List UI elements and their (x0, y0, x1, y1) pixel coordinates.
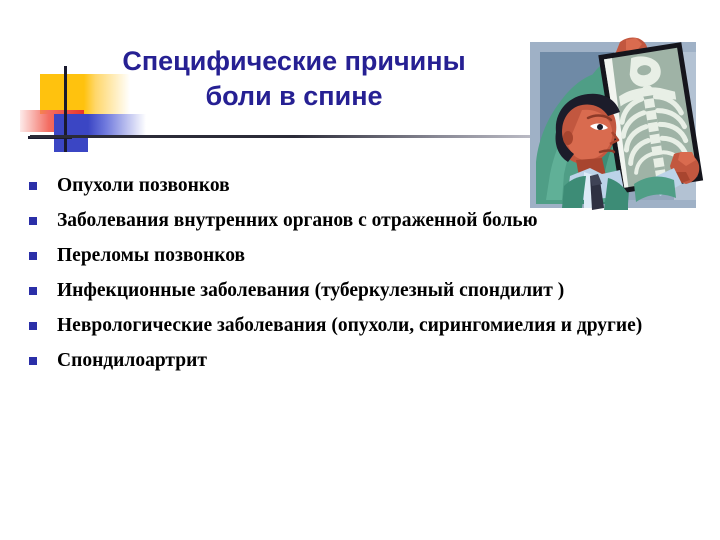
square-bullet-icon (29, 357, 37, 365)
square-bullet-icon (29, 287, 37, 295)
list-item-label: Переломы позвонков (57, 242, 684, 270)
square-bullet-icon (29, 252, 37, 260)
doctor-examining-xray-illustration (524, 34, 708, 216)
slide-canvas: Специфические причины боли в спине Опухо… (0, 0, 720, 540)
list-item-label: Неврологические заболевания (опухоли, си… (57, 312, 684, 340)
square-bullet-icon (29, 182, 37, 190)
square-bullet-icon (29, 322, 37, 330)
list-item-label: Инфекционные заболевания (туберкулезный … (57, 277, 684, 305)
list-item-label: Спондилоартрит (57, 347, 684, 375)
doctor-xray-svg (524, 34, 708, 216)
list-item: Спондилоартрит (24, 347, 684, 375)
list-item: Инфекционные заболевания (туберкулезный … (24, 277, 684, 305)
list-item: Неврологические заболевания (опухоли, си… (24, 312, 684, 340)
square-bullet-icon (29, 217, 37, 225)
list-item: Переломы позвонков (24, 242, 684, 270)
title-line-1: Специфические причины (60, 44, 528, 79)
title-line-2: боли в спине (60, 79, 528, 114)
slide-title: Специфические причины боли в спине (60, 44, 528, 114)
deco-blue-square (54, 114, 88, 152)
